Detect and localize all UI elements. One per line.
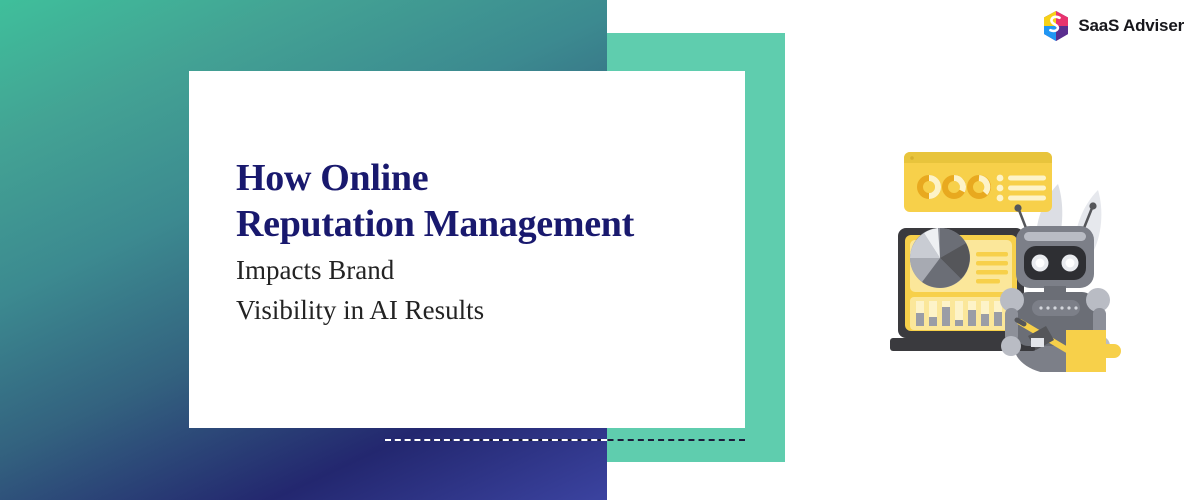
robot-head-highlight bbox=[1024, 232, 1086, 241]
headline-line-3: Impacts Brand bbox=[236, 253, 736, 287]
pie-chart bbox=[910, 228, 970, 288]
headline-block: How Online Reputation Management Impacts… bbox=[236, 155, 736, 327]
headline-line-2: Reputation Management bbox=[236, 201, 736, 247]
dashed-rule-light bbox=[385, 439, 607, 441]
ai-analytics-robot-illustration bbox=[888, 140, 1138, 372]
headline-line-1: How Online bbox=[236, 155, 736, 201]
puzzle-piece-icon bbox=[1066, 330, 1121, 372]
slide-canvas: How Online Reputation Management Impacts… bbox=[0, 0, 1200, 500]
headline-line-4: Visibility in AI Results bbox=[236, 293, 736, 327]
brand-name: SaaS Adviser bbox=[1078, 16, 1184, 36]
robot-hand-left bbox=[1001, 336, 1021, 356]
dashboard-card bbox=[904, 152, 1052, 212]
brand-logo[interactable]: SaaS Adviser bbox=[1043, 11, 1184, 41]
saas-adviser-logo-icon bbox=[1043, 11, 1069, 41]
